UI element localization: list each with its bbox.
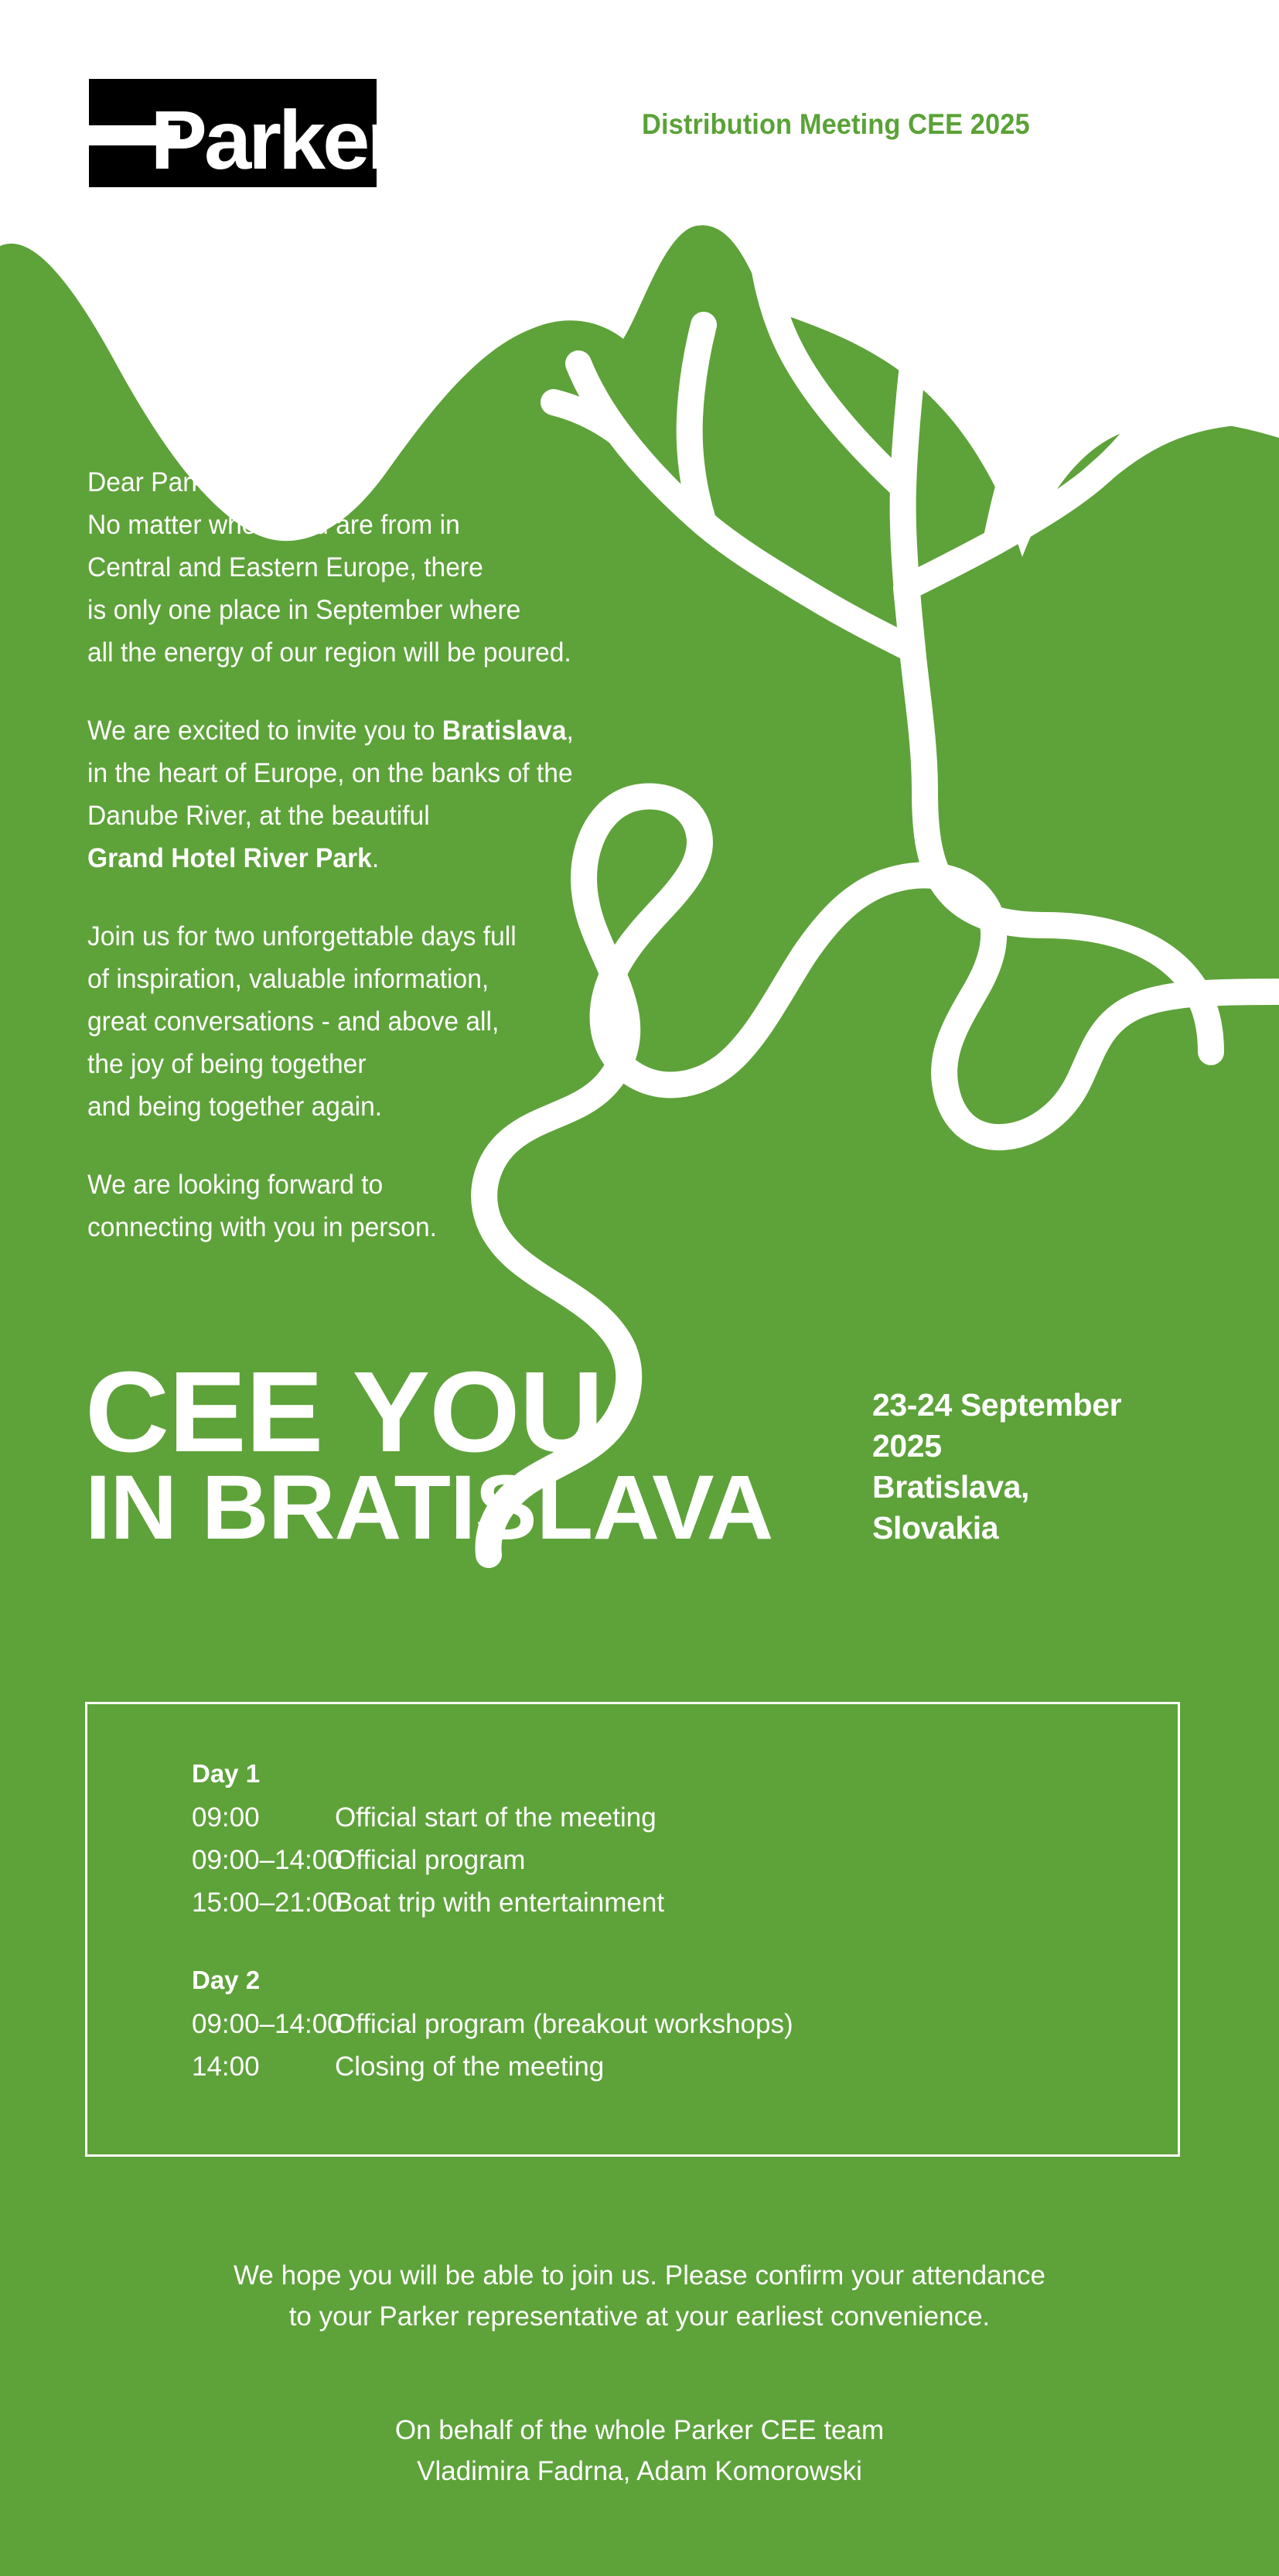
schedule-time: 15:00–21:00 bbox=[192, 1881, 335, 1924]
schedule-desc: Official program bbox=[335, 1839, 525, 1881]
letter-paragraph-4: We are looking forward to connecting wit… bbox=[87, 1163, 696, 1249]
schedule-desc: Official program (breakout workshops) bbox=[335, 2003, 793, 2045]
letter-line: . bbox=[372, 843, 379, 873]
event-year: 2025 bbox=[872, 1426, 1121, 1467]
letter-body: Dear Parker people! No matter where you … bbox=[87, 461, 696, 1249]
schedule-time: 14:00 bbox=[192, 2045, 335, 2088]
event-details: 23-24 September 2025 Bratislava, Slovaki… bbox=[872, 1385, 1121, 1549]
parker-logo: Parker bbox=[89, 79, 377, 187]
letter-line: We are looking forward to bbox=[87, 1170, 383, 1200]
schedule-box: Day 1 09:00 Official start of the meetin… bbox=[85, 1702, 1180, 2157]
schedule-desc: Boat trip with entertainment bbox=[335, 1881, 664, 1924]
letter-line: and being together again. bbox=[87, 1092, 382, 1122]
schedule-spacer bbox=[192, 1924, 793, 1959]
signoff-line-2: Vladimira Fadrna, Adam Komorowski bbox=[0, 2451, 1279, 2492]
schedule-time: 09:00–14:00 bbox=[192, 1839, 335, 1881]
letter-paragraph-1: Dear Parker people! No matter where you … bbox=[87, 461, 696, 674]
letter-line: is only one place in September where bbox=[87, 595, 520, 625]
schedule-desc: Closing of the meeting bbox=[335, 2045, 604, 2088]
letter-line: in the heart of Europe, on the banks of … bbox=[87, 758, 573, 788]
schedule-row: 14:00 Closing of the meeting bbox=[192, 2045, 793, 2088]
highlight-bratislava: Bratislava bbox=[442, 716, 567, 746]
letter-line: Dear Parker people! bbox=[87, 467, 320, 497]
invitation-poster: Parker Distribution Meeting CEE 2025 Dea… bbox=[0, 0, 1279, 2576]
letter-line: Danube River, at the beautiful bbox=[87, 801, 430, 831]
letter-line: , bbox=[566, 716, 573, 746]
page-title: Distribution Meeting CEE 2025 bbox=[642, 108, 1030, 141]
letter-line: the joy of being together bbox=[87, 1049, 367, 1079]
footer-signoff: On behalf of the whole Parker CEE team V… bbox=[0, 2410, 1279, 2492]
event-city: Bratislava, bbox=[872, 1467, 1121, 1508]
schedule-row: 09:00–14:00 Official program bbox=[192, 1839, 793, 1881]
letter-line: great conversations - and above all, bbox=[87, 1006, 499, 1037]
letter-line: of inspiration, valuable information, bbox=[87, 964, 489, 994]
poster-header: Parker Distribution Meeting CEE 2025 bbox=[0, 0, 1279, 193]
signoff-line-1: On behalf of the whole Parker CEE team bbox=[0, 2410, 1279, 2451]
schedule-row: 15:00–21:00 Boat trip with entertainment bbox=[192, 1881, 793, 1924]
headline-line-1: CEE YOU bbox=[85, 1363, 773, 1461]
footer-line-2: to your Parker representative at your ea… bbox=[0, 2296, 1279, 2337]
footer-line-1: We hope you will be able to join us. Ple… bbox=[0, 2255, 1279, 2296]
day2-title: Day 2 bbox=[192, 1959, 793, 2001]
headline: CEE YOU IN BRATISLAVA bbox=[85, 1363, 759, 1548]
schedule-row: 09:00 Official start of the meeting bbox=[192, 1796, 793, 1839]
letter-line: connecting with you in person. bbox=[87, 1212, 437, 1242]
headline-line-2: IN BRATISLAVA bbox=[85, 1469, 773, 1547]
letter-line: We are excited to invite you to bbox=[87, 716, 442, 746]
footer-note: We hope you will be able to join us. Ple… bbox=[0, 2255, 1279, 2337]
highlight-hotel: Grand Hotel River Park bbox=[87, 843, 372, 873]
letter-line: Join us for two unforgettable days full bbox=[87, 921, 517, 951]
letter-line: all the energy of our region will be pou… bbox=[87, 637, 571, 668]
letter-paragraph-2: We are excited to invite you to Bratisla… bbox=[87, 709, 696, 880]
svg-text:Parker: Parker bbox=[151, 94, 377, 187]
day1-title: Day 1 bbox=[192, 1752, 793, 1795]
letter-paragraph-3: Join us for two unforgettable days full … bbox=[87, 915, 696, 1128]
schedule-content: Day 1 09:00 Official start of the meetin… bbox=[192, 1752, 793, 2088]
event-country: Slovakia bbox=[872, 1508, 1121, 1549]
letter-line: No matter where you are from in bbox=[87, 510, 460, 540]
background-artwork bbox=[0, 0, 1279, 2576]
schedule-row: 09:00–14:00 Official program (breakout w… bbox=[192, 2003, 793, 2045]
schedule-time: 09:00 bbox=[192, 1796, 335, 1839]
schedule-time: 09:00–14:00 bbox=[192, 2003, 335, 2045]
letter-line: Central and Eastern Europe, there bbox=[87, 552, 483, 583]
event-dates: 23-24 September bbox=[872, 1385, 1121, 1426]
schedule-desc: Official start of the meeting bbox=[335, 1796, 657, 1839]
